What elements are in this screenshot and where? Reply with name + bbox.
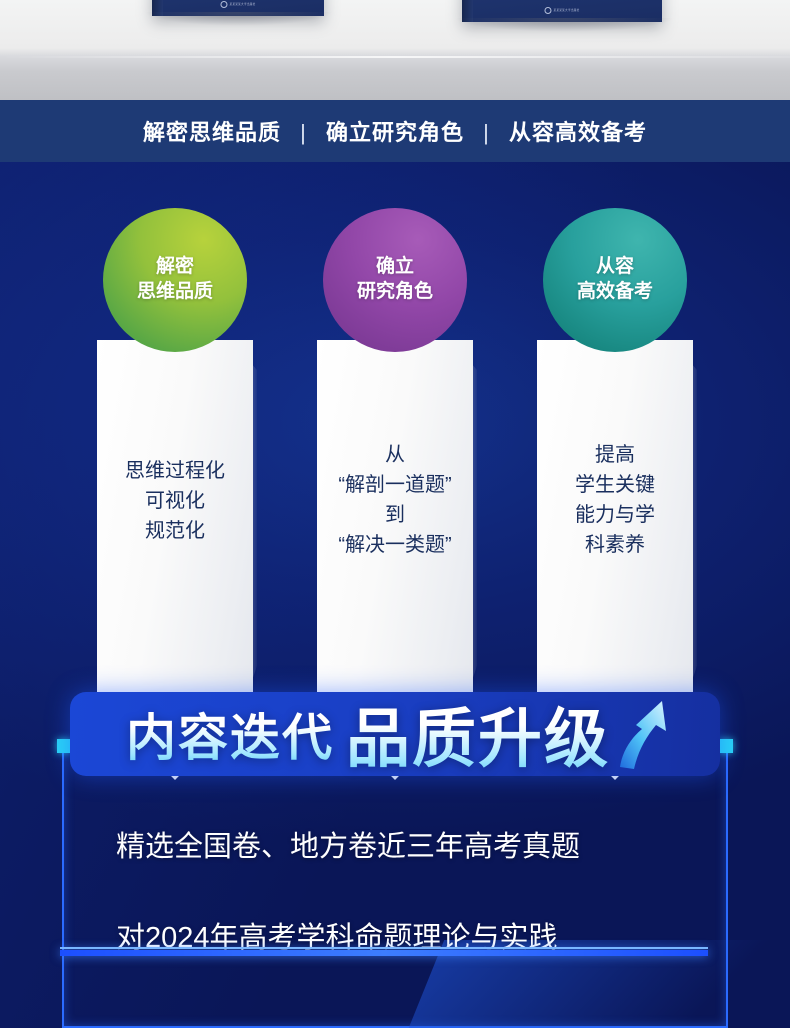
badge-body-line: 可视化 <box>97 486 253 516</box>
subtext-line1: 精选全国卷、地方卷近三年高考真题 <box>62 800 728 867</box>
badge-body-role: 从 “解剖一道题” 到 “解决一类题” <box>317 440 473 560</box>
badge-body-line: 学生关键 <box>537 470 693 500</box>
promo-page: 某某某某大学出版社 某某某某大学出版社 解密思维品质 | 确立研究角色 | 从容… <box>0 0 790 1028</box>
badge-decode: 解密 思维品质 思维过程化 可视化 规范化 <box>85 208 265 618</box>
badge-prepare: 从容 高效备考 提高 学生关键 能力与学 科素养 <box>525 208 705 618</box>
badge-body-line: 能力与学 <box>537 500 693 530</box>
badge-circle-line2: 思维品质 <box>137 280 213 305</box>
badge-body-line: “解剖一道题” <box>317 470 473 500</box>
badge-circle-line1: 解密 <box>156 255 194 280</box>
badge-circle-line2: 研究角色 <box>357 280 433 305</box>
badge-body-line: 科素养 <box>537 530 693 560</box>
badge-circle-line1: 确立 <box>376 255 414 280</box>
section-divider <box>60 950 708 956</box>
badge-body-line: 从 <box>317 440 473 470</box>
strip-separator: | <box>288 120 319 145</box>
book-shadow <box>454 18 674 32</box>
publisher-mark-icon <box>544 7 551 14</box>
badge-circle-line1: 从容 <box>596 255 634 280</box>
product-photo: 某某某某大学出版社 某某某某大学出版社 <box>0 0 790 100</box>
header-strip: 解密思维品质 | 确立研究角色 | 从容高效备考 <box>0 100 790 162</box>
divider-highlight <box>60 947 708 949</box>
strip-item-3: 从容高效备考 <box>509 120 647 145</box>
badge-body-line: 规范化 <box>97 516 253 546</box>
header-strip-text: 解密思维品质 | 确立研究角色 | 从容高效备考 <box>143 115 647 147</box>
badge-role: 确立 研究角色 从 “解剖一道题” 到 “解决一类题” <box>305 208 485 618</box>
headline-part1: 内容迭代 <box>126 698 334 770</box>
floor-line <box>0 56 790 58</box>
publisher-logo: 某某某某大学出版社 <box>220 1 255 8</box>
subtext-line2: 对2024年高考学科命题理论与实践 <box>62 867 728 958</box>
badge-circle-decode: 解密 思维品质 <box>103 208 247 352</box>
publisher-name: 某某某某大学出版社 <box>229 3 255 6</box>
headline-part2: 品质升级 <box>346 688 610 780</box>
publisher-logo: 某某某某大学出版社 <box>544 7 579 14</box>
badge-row: 解密 思维品质 思维过程化 可视化 规范化 确立 研究角色 从 “解剖一道题” … <box>0 208 790 618</box>
publisher-mark-icon <box>220 1 227 8</box>
badge-body-line: 思维过程化 <box>97 456 253 486</box>
badge-body-line: 提高 <box>537 440 693 470</box>
strip-item-2: 确立研究角色 <box>326 120 464 145</box>
badge-body-decode: 思维过程化 可视化 规范化 <box>97 456 253 546</box>
headline: 内容迭代 品质升级 <box>62 690 742 778</box>
badge-circle-prepare: 从容 高效备考 <box>543 208 687 352</box>
sub-texts: 精选全国卷、地方卷近三年高考真题 对2024年高考学科命题理论与实践 <box>62 800 728 958</box>
book-shadow <box>144 12 333 26</box>
badge-circle-line2: 高效备考 <box>577 280 653 305</box>
strip-separator: | <box>471 120 502 145</box>
up-arrow-icon <box>616 695 678 773</box>
badge-circle-role: 确立 研究角色 <box>323 208 467 352</box>
publisher-name: 某某某某大学出版社 <box>553 9 579 12</box>
book-right: 某某某某大学出版社 <box>462 0 662 22</box>
badge-body-line: “解决一类题” <box>317 530 473 560</box>
strip-item-1: 解密思维品质 <box>143 120 281 145</box>
book-left: 某某某某大学出版社 <box>152 0 324 16</box>
badge-body-prepare: 提高 学生关键 能力与学 科素养 <box>537 440 693 560</box>
badge-body-line: 到 <box>317 500 473 530</box>
